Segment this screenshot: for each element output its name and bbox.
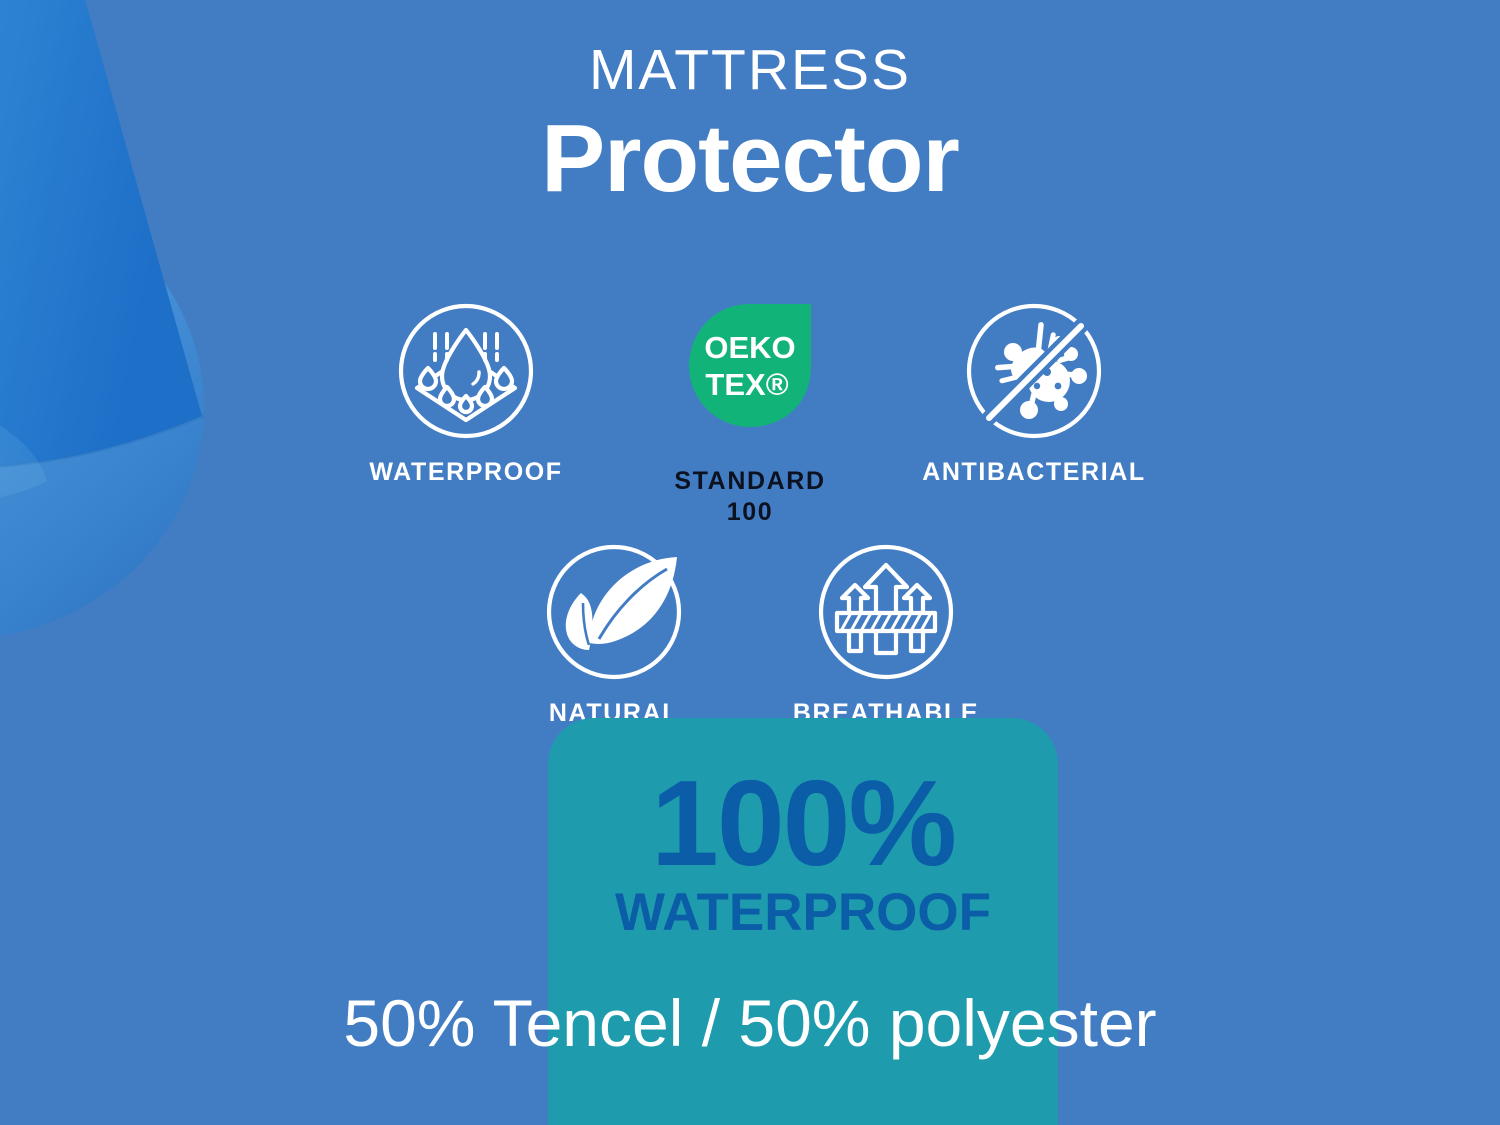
leaf-icon <box>543 541 685 683</box>
feature-antibacterial: ANTIBACTERIAL <box>934 300 1134 487</box>
feature-oeko-tex: OEKO TEX® STANDARD 100 <box>650 300 850 527</box>
no-bacteria-icon <box>963 300 1105 442</box>
breathable-arrows-icon <box>815 541 957 683</box>
kicker-text: MATTRESS <box>0 42 1500 99</box>
feature-waterproof: WATERPROOF <box>366 300 566 487</box>
promo-percent: 100% <box>548 762 1058 884</box>
oeko-badge-line2: TEX® <box>705 367 788 402</box>
heading-block: MATTRESS Protector <box>0 42 1500 213</box>
feature-natural: NATURAL <box>514 541 714 728</box>
feature-label-standard: STANDARD 100 <box>674 466 825 527</box>
feature-badges: WATERPROOF OEKO TEX® STANDARD 100 <box>0 300 1500 728</box>
standard-line1: STANDARD <box>674 466 825 497</box>
promo-panel: 100% WATERPROOF <box>548 718 1058 1125</box>
page-title: Protector <box>0 105 1500 213</box>
waterproof-droplet-icon <box>395 300 537 442</box>
standard-line2: 100 <box>674 497 825 528</box>
feature-row-bottom: NATURAL <box>0 541 1500 728</box>
oeko-tex-badge-icon: OEKO TEX® <box>685 300 815 450</box>
feature-breathable: BREATHABLE <box>786 541 986 728</box>
feature-row-top: WATERPROOF OEKO TEX® STANDARD 100 <box>0 300 1500 527</box>
product-banner: MATTRESS Protector <box>0 0 1500 1125</box>
composition-tagline: 50% Tencel / 50% polyester <box>0 990 1500 1056</box>
oeko-badge-line1: OEKO <box>704 330 795 365</box>
feature-label: WATERPROOF <box>369 458 562 487</box>
promo-subtitle: WATERPROOF <box>548 886 1058 939</box>
feature-label: ANTIBACTERIAL <box>922 458 1146 487</box>
